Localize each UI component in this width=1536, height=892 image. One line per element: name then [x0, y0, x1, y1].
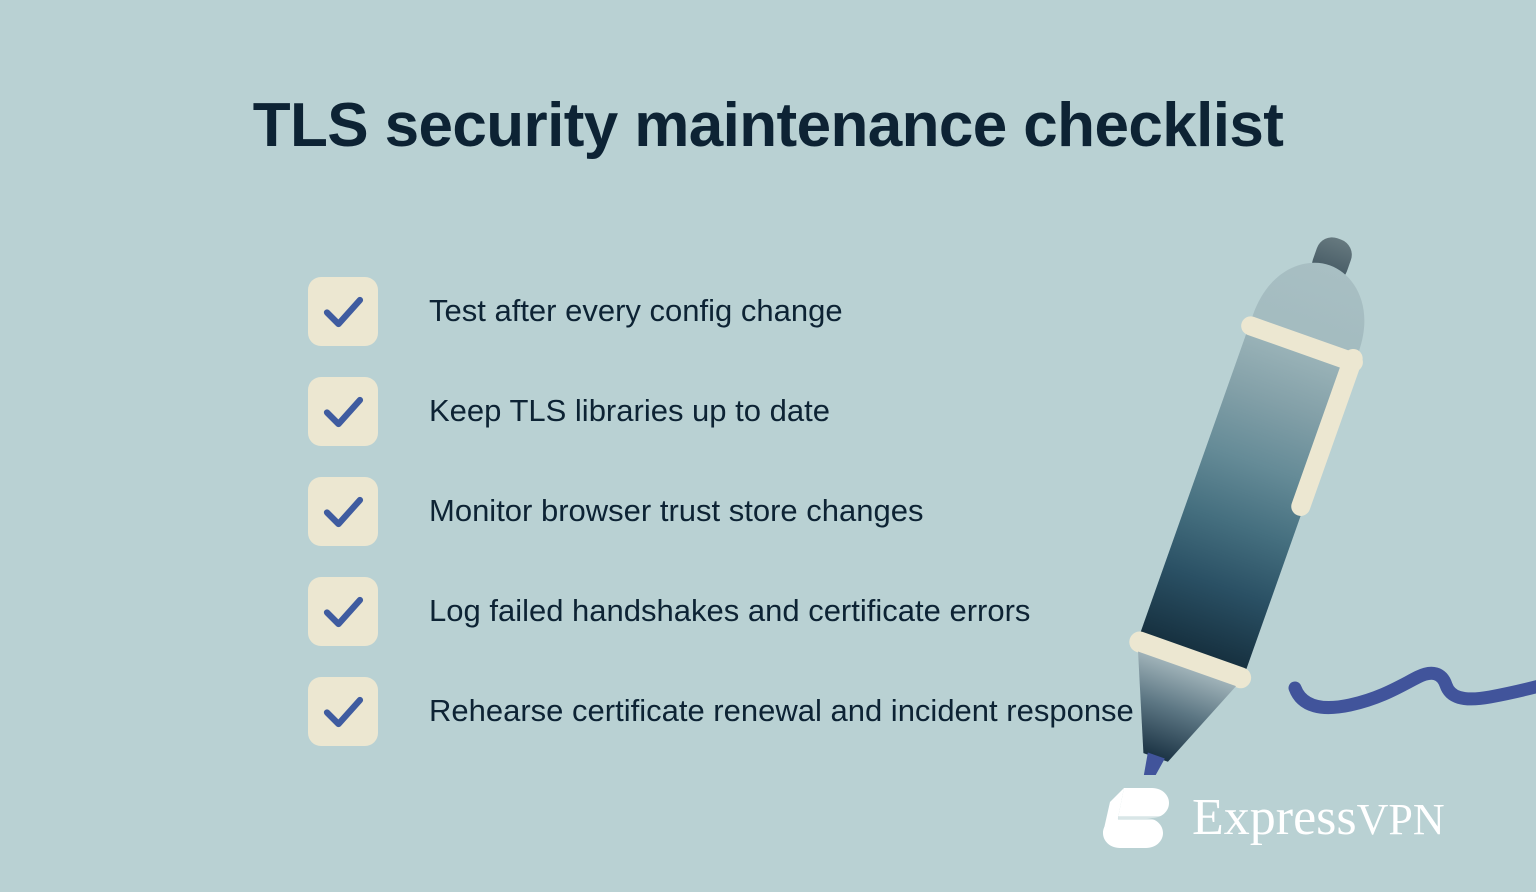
- checkbox-4[interactable]: [308, 577, 378, 646]
- check-icon: [308, 477, 378, 546]
- check-icon: [308, 277, 378, 346]
- check-icon: [308, 377, 378, 446]
- list-item-label: Test after every config change: [429, 292, 843, 331]
- list-item-label: Rehearse certificate renewal and inciden…: [429, 692, 1134, 731]
- page-title: TLS security maintenance checklist: [0, 92, 1536, 160]
- expressvpn-wordmark: ExpressVPN: [1192, 792, 1445, 844]
- pen-ink-line: [1295, 673, 1536, 707]
- check-icon: [308, 677, 378, 746]
- expressvpn-logo[interactable]: ExpressVPN: [1098, 782, 1445, 854]
- list-item[interactable]: Rehearse certificate renewal and inciden…: [308, 677, 1268, 746]
- checkbox-5[interactable]: [308, 677, 378, 746]
- pen-nib: [1140, 753, 1165, 775]
- pen-clip: [1301, 358, 1353, 506]
- list-item[interactable]: Monitor browser trust store changes: [308, 477, 1268, 546]
- checkbox-2[interactable]: [308, 377, 378, 446]
- checkbox-1[interactable]: [308, 277, 378, 346]
- expressvpn-e-mark-icon: [1098, 786, 1172, 850]
- logo-suffix: VPN: [1357, 795, 1445, 844]
- list-item-label: Log failed handshakes and certificate er…: [429, 592, 1030, 631]
- list-item[interactable]: Test after every config change: [308, 277, 1268, 346]
- logo-name: Express: [1192, 789, 1357, 846]
- checkbox-3[interactable]: [308, 477, 378, 546]
- list-item[interactable]: Log failed handshakes and certificate er…: [308, 577, 1268, 646]
- list-item-label: Monitor browser trust store changes: [429, 492, 924, 531]
- list-item-label: Keep TLS libraries up to date: [429, 392, 830, 431]
- poster-canvas: TLS security maintenance checklist Test …: [0, 0, 1536, 892]
- list-item[interactable]: Keep TLS libraries up to date: [308, 377, 1268, 446]
- pen-cap-button: [1308, 233, 1357, 286]
- check-icon: [308, 577, 378, 646]
- checklist: Test after every config change Keep TLS …: [308, 277, 1268, 746]
